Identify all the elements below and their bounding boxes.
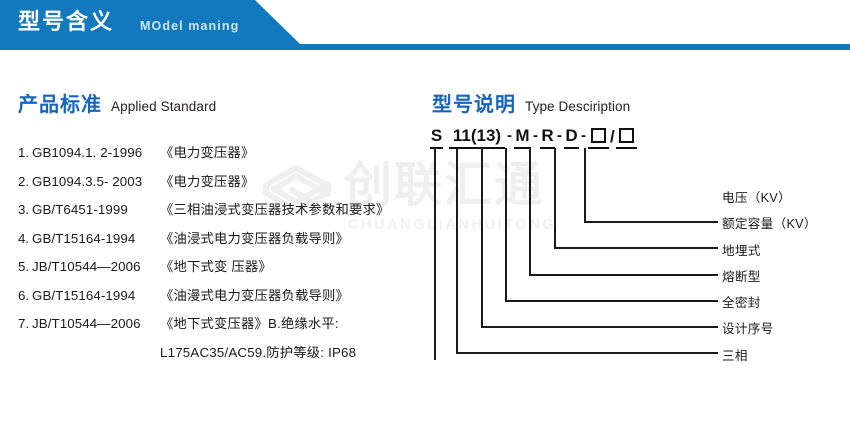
- list-item: 2. GB1094.3.5- 2003 《电力变压器》: [18, 172, 418, 201]
- code-segment-voltage: [616, 125, 637, 149]
- list-item: 4. GB/T15164-1994 《油浸式电力变压器负载导则》: [18, 229, 418, 258]
- leader-line-buried: [530, 148, 718, 275]
- standard-code: GB/T15164-1994: [32, 229, 160, 249]
- code-segment-capacity: [588, 125, 609, 149]
- label-fuse: 熔断型: [722, 267, 850, 293]
- label-voltage: 电压（KV）: [722, 188, 850, 214]
- standards-list: 1. GB1094.1. 2-1996 《电力变压器》 2. GB1094.3.…: [18, 143, 418, 371]
- standard-code: JB/T10544—2006: [32, 314, 160, 334]
- capacity-placeholder-box: [591, 128, 606, 143]
- voltage-placeholder-box: [619, 128, 634, 143]
- type-heading-cn: 型号说明: [432, 94, 516, 116]
- list-item: 3. GB/T6451-1999 《三相油浸式变压器技术参数和要求》: [18, 200, 418, 229]
- code-segment-buried: D: [564, 126, 579, 149]
- page-subtitle: MOdel maning: [140, 17, 239, 35]
- standard-name: 《电力变压器》: [160, 172, 254, 192]
- code-separator: -: [531, 126, 540, 149]
- leader-line-phase: [435, 148, 718, 360]
- page-title: 型号含义: [18, 9, 114, 35]
- standard-code: GB/T6451-1999: [32, 200, 160, 220]
- code-segment-sealed: M: [514, 126, 531, 149]
- standard-name: 《电力变压器》: [160, 143, 254, 163]
- code-segment-fuse: R: [540, 126, 555, 149]
- standard-number: 7.: [18, 314, 32, 334]
- code-slash: /: [609, 127, 616, 148]
- code-separator: -: [579, 126, 588, 149]
- code-separator: -: [505, 126, 514, 149]
- model-code-string: S - 11(13) - M - R - D - /: [430, 124, 637, 150]
- code-separator: -: [555, 126, 564, 149]
- leader-line-design-serial: [457, 148, 718, 353]
- standard-name: 《三相油浸式变压器技术参数和要求》: [160, 200, 389, 220]
- list-item: 5. JB/T10544—2006 《地下式变 压器》: [18, 257, 418, 286]
- standard-number: 5.: [18, 257, 32, 277]
- leader-line-capacity: [555, 148, 718, 248]
- standard-code: JB/T10544—2006: [32, 257, 160, 277]
- page-header: 型号含义 MOdel maning: [0, 0, 850, 52]
- standard-number: 6.: [18, 286, 32, 306]
- label-capacity: 额定容量（KV）: [722, 214, 850, 240]
- leader-labels: 电压（KV） 额定容量（KV） 地埋式 熔断型 全密封 设计序号 三相: [722, 188, 850, 372]
- standards-heading-cn: 产品标准: [18, 94, 102, 116]
- standard-continuation-line: L175AC35/AC59.防护等级: IP68: [18, 343, 418, 372]
- standard-code: GB/T15164-1994: [32, 286, 160, 306]
- list-item: 7. JB/T10544—2006 《地下式变压器》B.绝缘水平:: [18, 314, 418, 343]
- code-segment-phase: S: [430, 126, 443, 149]
- list-item: 6. GB/T15164-1994 《油漫式电力变压器负载导则》: [18, 286, 418, 315]
- header-underline-rule: [0, 44, 850, 50]
- code-segment-design-serial: 11(13): [449, 126, 505, 149]
- standard-number: 3.: [18, 200, 32, 220]
- standard-name: 《地下式变 压器》: [160, 257, 272, 277]
- standard-name: 《地下式变压器》B.绝缘水平:: [160, 314, 339, 334]
- standard-number: 4.: [18, 229, 32, 249]
- type-heading: 型号说明Type Desciription: [432, 88, 630, 117]
- standard-number: 2.: [18, 172, 32, 192]
- standard-name: 《油浸式电力变压器负载导则》: [160, 229, 349, 249]
- label-design-serial: 设计序号: [722, 319, 850, 345]
- label-buried: 地埋式: [722, 241, 850, 267]
- standard-name: 《油漫式电力变压器负载导则》: [160, 286, 349, 306]
- standards-heading: 产品标准Applied Standard: [18, 88, 216, 117]
- type-designation-diagram: S - 11(13) - M - R - D - /: [430, 124, 850, 360]
- standard-number: 1.: [18, 143, 32, 163]
- leader-line-fuse: [506, 148, 718, 301]
- list-item: 1. GB1094.1. 2-1996 《电力变压器》: [18, 143, 418, 172]
- standard-code: GB1094.3.5- 2003: [32, 172, 160, 192]
- standards-heading-en: Applied Standard: [111, 99, 216, 114]
- label-sealed: 全密封: [722, 293, 850, 319]
- label-phase: 三相: [722, 346, 850, 372]
- standard-code: GB1094.1. 2-1996: [32, 143, 160, 163]
- type-heading-en: Type Desciription: [525, 99, 630, 114]
- leader-line-voltage: [585, 148, 718, 222]
